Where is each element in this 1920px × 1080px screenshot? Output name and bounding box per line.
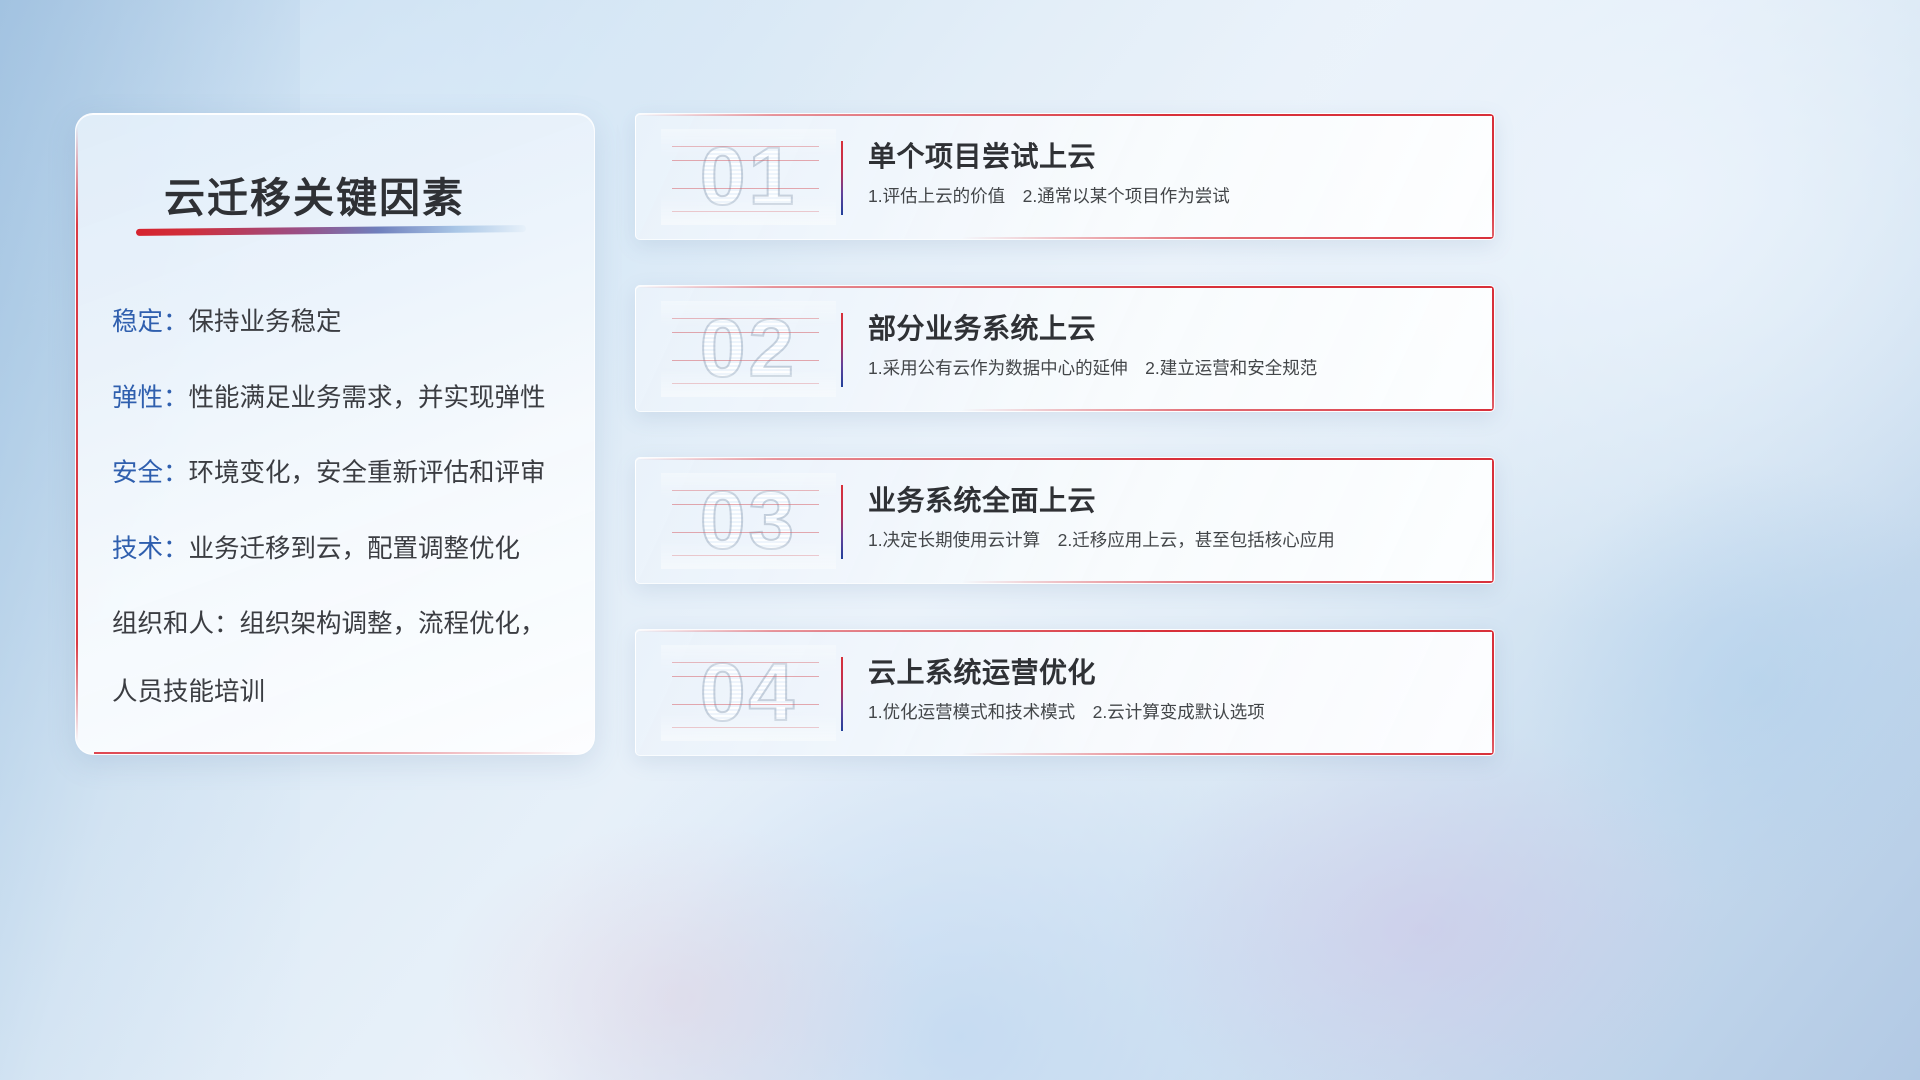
factor-key: 稳定： [112,308,189,336]
number-accent-tick [672,704,819,705]
card-subtitle: 1.决定长期使用云计算 2.迁移应用上云，甚至包括核心应用 [868,530,1470,552]
stage-card[interactable]: 02 部分业务系统上云 1.采用公有云作为数据中心的延伸 2.建立运营和安全规范 [635,285,1495,412]
number-fade-veil [661,301,836,397]
list-item: 技术：业务迁移到云，配置调整优化 [112,537,572,563]
card-edge-top [636,458,1494,460]
number-accent-tick [672,332,819,333]
card-divider-bar [841,313,843,387]
number-accent-tick [672,490,819,491]
card-number: 01 [661,129,836,225]
card-edge-top [636,286,1494,288]
factor-value: 保持业务稳定 [189,308,342,336]
factor-value: 环境变化，安全重新评估和评审 [189,459,546,487]
number-accent-tick [672,160,819,161]
card-divider-bar [841,657,843,731]
card-body: 云上系统运营优化 1.优化运营模式和技术模式 2.云计算变成默认选项 [868,656,1470,724]
number-accent-tick [672,555,819,556]
card-edge-bottom [962,409,1494,411]
list-item: 稳定：保持业务稳定 [112,310,572,336]
number-accent-tick [672,532,819,533]
card-edge-right [1492,458,1494,583]
number-accent-tick [672,676,819,677]
card-number: 03 [661,473,836,569]
list-item: 组织和人：组织架构调整，流程优化， [112,612,572,638]
card-edge-bottom [962,237,1494,239]
stage-card[interactable]: 03 业务系统全面上云 1.决定长期使用云计算 2.迁移应用上云，甚至包括核心应… [635,457,1495,584]
list-item: 安全：环境变化，安全重新评估和评审 [112,461,572,487]
number-fade-veil [661,129,836,225]
factor-list: 稳定：保持业务稳定 弹性：性能满足业务需求，并实现弹性 安全：环境变化，安全重新… [112,310,572,705]
number-accent-tick [672,211,819,212]
stage-card-list: 01 单个项目尝试上云 1.评估上云的价值 2.通常以某个项目作为尝试 02 部… [635,113,1495,756]
card-title: 业务系统全面上云 [868,484,1470,517]
card-subtitle: 1.采用公有云作为数据中心的延伸 2.建立运营和安全规范 [868,358,1470,380]
card-divider-bar [841,485,843,559]
stage-card[interactable]: 04 云上系统运营优化 1.优化运营模式和技术模式 2.云计算变成默认选项 [635,629,1495,756]
card-divider-bar [841,141,843,215]
number-accent-tick [672,318,819,319]
number-accent-tick [672,383,819,384]
number-accent-tick [672,188,819,189]
factor-key: 技术： [112,535,189,563]
card-edge-right [1492,114,1494,239]
factor-value: 性能满足业务需求，并实现弹性 [189,384,546,412]
card-number: 04 [661,645,836,741]
stage-card[interactable]: 01 单个项目尝试上云 1.评估上云的价值 2.通常以某个项目作为尝试 [635,113,1495,240]
card-body: 部分业务系统上云 1.采用公有云作为数据中心的延伸 2.建立运营和安全规范 [868,312,1470,380]
factor-key: 组织和人： [112,610,240,638]
card-subtitle: 1.优化运营模式和技术模式 2.云计算变成默认选项 [868,702,1470,724]
number-accent-tick [672,727,819,728]
number-fade-veil [661,645,836,741]
card-edge-bottom [962,581,1494,583]
number-accent-tick [672,504,819,505]
number-accent-tick [672,662,819,663]
number-accent-tick [672,360,819,361]
factor-value: 业务迁移到云，配置调整优化 [189,535,521,563]
card-edge-right [1492,630,1494,755]
factor-key: 安全： [112,459,189,487]
card-title: 单个项目尝试上云 [868,140,1470,173]
number-accent-tick [672,146,819,147]
factor-value: 人员技能培训 [112,678,265,706]
slide-stage: 云迁移关键因素 稳定：保持业务稳定 弹性：性能满足业务需求，并实现弹性 安全：环… [0,0,1920,1080]
key-factors-panel: 云迁移关键因素 稳定：保持业务稳定 弹性：性能满足业务需求，并实现弹性 安全：环… [75,113,595,755]
card-edge-bottom [962,753,1494,755]
title-gradient-rule [136,225,526,236]
card-number: 02 [661,301,836,397]
card-edge-top [636,114,1494,116]
factor-value: 组织架构调整，流程优化， [240,610,546,638]
card-edge-right [1492,286,1494,411]
number-fade-veil [661,473,836,569]
list-item-continuation: 人员技能培训 [112,680,572,706]
card-body: 业务系统全面上云 1.决定长期使用云计算 2.迁移应用上云，甚至包括核心应用 [868,484,1470,552]
card-subtitle: 1.评估上云的价值 2.通常以某个项目作为尝试 [868,186,1470,208]
card-edge-top [636,630,1494,632]
list-item: 弹性：性能满足业务需求，并实现弹性 [112,386,572,412]
page-title: 云迁移关键因素 [164,164,465,224]
factor-key: 弹性： [112,384,189,412]
card-title: 云上系统运营优化 [868,656,1470,689]
card-body: 单个项目尝试上云 1.评估上云的价值 2.通常以某个项目作为尝试 [868,140,1470,208]
card-title: 部分业务系统上云 [868,312,1470,345]
